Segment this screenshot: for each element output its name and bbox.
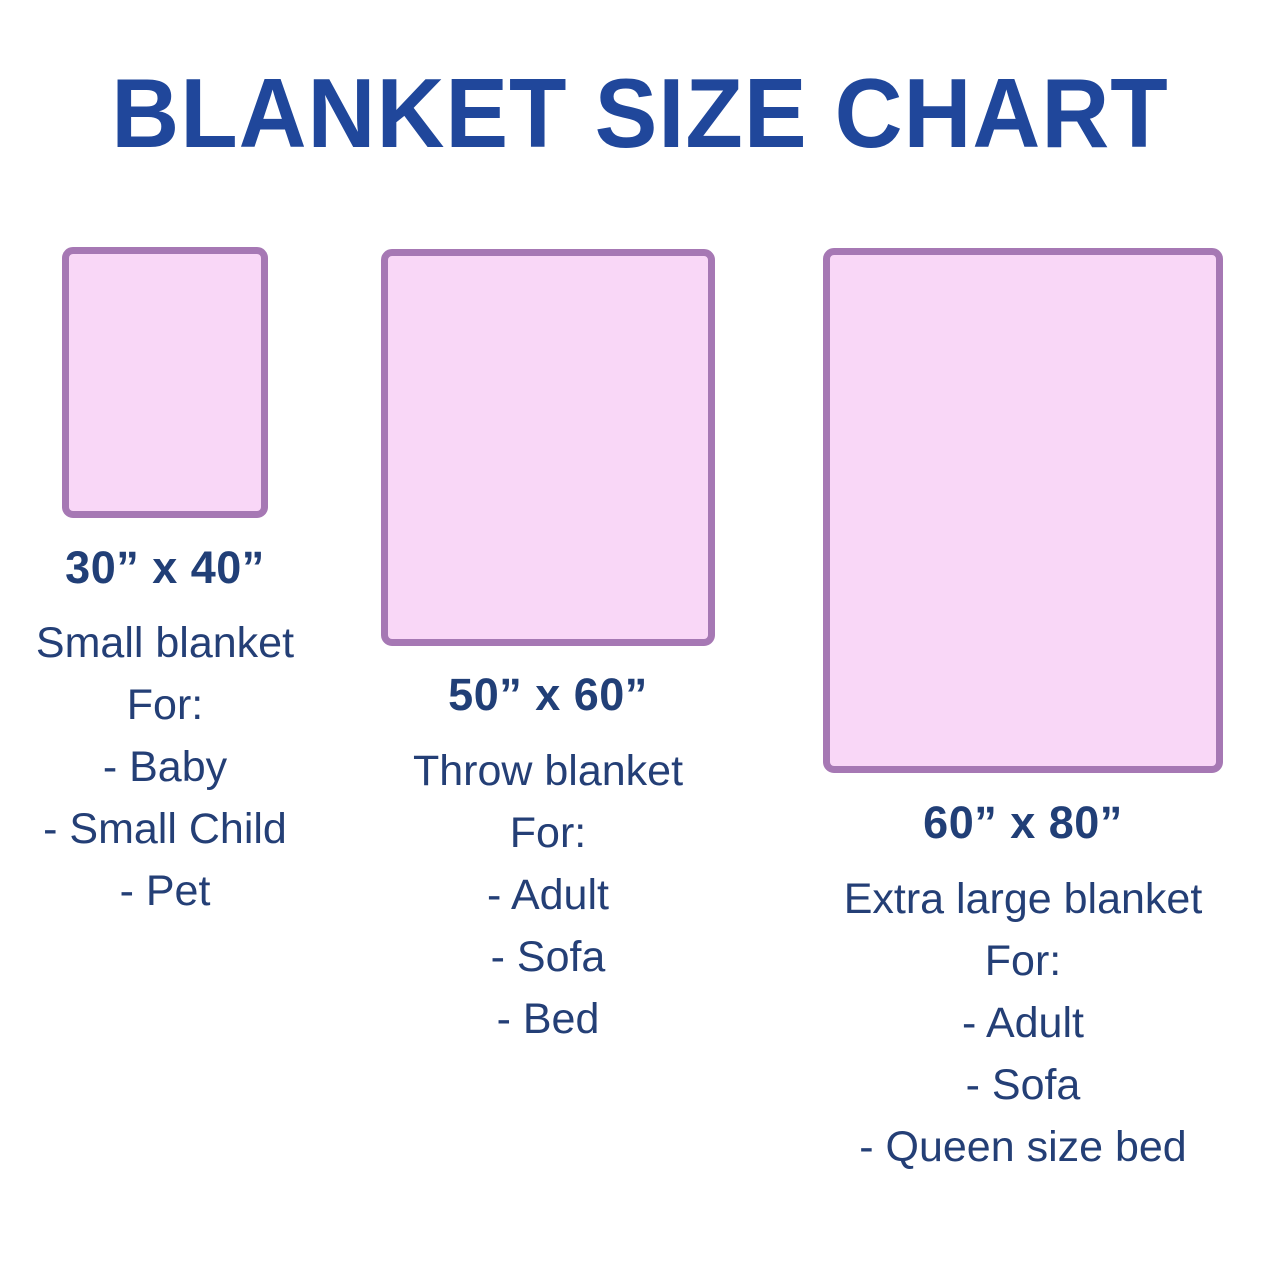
use-item: - Bed [368, 988, 728, 1050]
description-block-throw: Throw blanket For: - Adult - Sofa - Bed [368, 740, 728, 1050]
use-item: - Adult [782, 992, 1264, 1054]
blanket-column-throw: 50” x 60” Throw blanket For: - Adult - S… [368, 0, 728, 1280]
dimension-label-xlarge: 60” x 80” [782, 795, 1264, 851]
for-label-small: For: [0, 674, 330, 736]
blanket-column-xlarge: 60” x 80” Extra large blanket For: - Adu… [782, 0, 1264, 1280]
dimension-label-throw: 50” x 60” [368, 667, 728, 723]
for-label-throw: For: [368, 802, 728, 864]
blanket-name-xlarge: Extra large blanket [782, 868, 1264, 930]
blanket-swatch-xlarge [823, 248, 1223, 773]
use-item: - Pet [0, 860, 330, 922]
use-item: - Sofa [782, 1054, 1264, 1116]
for-label-xlarge: For: [782, 930, 1264, 992]
use-item: - Adult [368, 864, 728, 926]
blanket-name-throw: Throw blanket [368, 740, 728, 802]
use-item: - Baby [0, 736, 330, 798]
blanket-column-small: 30” x 40” Small blanket For: - Baby - Sm… [0, 0, 330, 1280]
description-block-small: Small blanket For: - Baby - Small Child … [0, 612, 330, 922]
use-item: - Small Child [0, 798, 330, 860]
blanket-size-chart-page: BLANKET SIZE CHART 30” x 40” Small blank… [0, 0, 1280, 1280]
description-block-xlarge: Extra large blanket For: - Adult - Sofa … [782, 868, 1264, 1178]
dimension-label-small: 30” x 40” [0, 540, 330, 596]
blanket-swatch-throw [381, 249, 715, 646]
use-item: - Sofa [368, 926, 728, 988]
blanket-swatch-small [62, 247, 268, 518]
use-item: - Queen size bed [782, 1116, 1264, 1178]
blanket-name-small: Small blanket [0, 612, 330, 674]
